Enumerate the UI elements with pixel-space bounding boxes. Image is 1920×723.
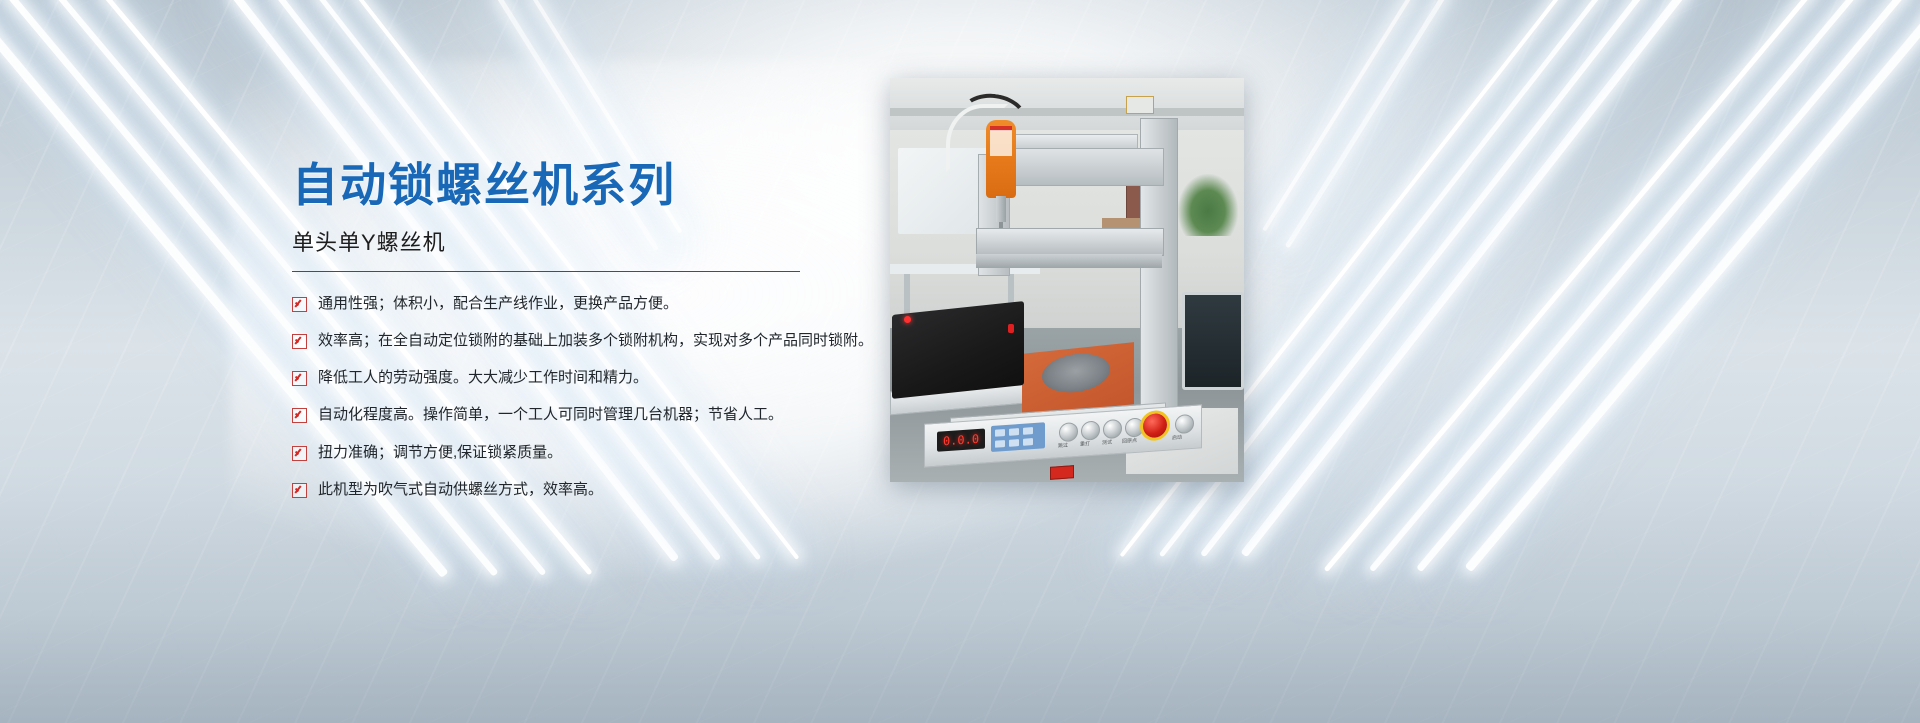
button-test[interactable] [1103, 419, 1122, 439]
check-box-icon [292, 371, 307, 386]
check-box-icon [292, 483, 307, 498]
feature-list: 通用性强；体积小，配合生产线作业，更换产品方便。 效率高；在全自动定位锁附的基础… [292, 294, 892, 501]
button-redo-label: 重打 [1080, 440, 1090, 448]
photo-ceiling-beam [890, 108, 1244, 116]
button-test-label: 测试 [1102, 439, 1112, 447]
button-home-label: 回原点 [1122, 437, 1137, 445]
product-banner: 自动锁螺丝机系列 单头单Y螺丝机 通用性强；体积小，配合生产线作业，更换产品方便… [0, 0, 1920, 723]
check-box-icon [292, 334, 307, 349]
counter-display: 0.0.0 [937, 428, 985, 451]
feature-text: 通用性强；体积小，配合生产线作业，更换产品方便。 [318, 294, 678, 314]
title-divider [292, 271, 800, 272]
check-box-icon [292, 297, 307, 312]
feature-text: 此机型为吹气式自动供螺丝方式，效率高。 [318, 480, 603, 500]
feature-text: 效率高；在全自动定位锁附的基础上加装多个锁附机构，实现对多个产品同时锁附。 [318, 331, 873, 351]
emergency-stop-button[interactable] [1143, 413, 1167, 439]
button-start[interactable] [1175, 414, 1194, 434]
machine-hmi-screen [1182, 292, 1244, 390]
button-start-label: 启动 [1172, 434, 1182, 442]
button-redo[interactable] [1081, 420, 1100, 440]
list-item: 自动化程度高。操作简单，一个工人可同时管理几台机器；节省人工。 [292, 405, 892, 425]
photo-plant [1178, 174, 1238, 236]
list-item: 通用性强；体积小，配合生产线作业，更换产品方便。 [292, 294, 892, 314]
banner-copy: 自动锁螺丝机系列 单头单Y螺丝机 通用性强；体积小，配合生产线作业，更换产品方便… [292, 160, 892, 517]
counter-value: 0.0.0 [943, 433, 979, 448]
machine-gantry-body [1012, 148, 1164, 186]
button-skip-label: 跳过 [1058, 442, 1068, 450]
machine-x-axis-rail [976, 228, 1164, 256]
machine-screwdriver-shaft [996, 196, 1006, 222]
list-item: 效率高；在全自动定位锁附的基础上加装多个锁附机构，实现对多个产品同时锁附。 [292, 331, 892, 351]
button-skip[interactable] [1059, 422, 1078, 442]
feature-text: 自动化程度高。操作简单，一个工人可同时管理几台机器；节省人工。 [318, 405, 783, 425]
machine-screwdriver-label [990, 130, 1012, 156]
button-home[interactable] [1125, 417, 1144, 437]
list-item: 此机型为吹气式自动供螺丝方式，效率高。 [292, 480, 892, 500]
keypad[interactable] [991, 422, 1045, 452]
feature-text: 降低工人的劳动强度。大大减少工作时间和精力。 [318, 368, 648, 388]
machine-x-axis-rail-lower [976, 254, 1162, 268]
machine-feeder-indicator [904, 316, 911, 323]
page-title: 自动锁螺丝机系列 [292, 160, 892, 211]
check-box-icon [292, 408, 307, 423]
check-box-icon [292, 446, 307, 461]
list-item: 降低工人的劳动强度。大大减少工作时间和精力。 [292, 368, 892, 388]
photo-wall-sign [1126, 96, 1154, 114]
page-subtitle: 单头单Y螺丝机 [292, 225, 892, 257]
machine-screw-feeder [892, 301, 1024, 399]
machine-feeder-indicator-2 [1008, 324, 1014, 333]
product-photo: 0.0.0 跳过 重打 测试 回原点 启动 [890, 78, 1244, 482]
photo-ceiling [890, 78, 1244, 136]
list-item: 扭力准确；调节方便,保证锁紧质量。 [292, 443, 892, 463]
machine-power-switch[interactable] [1050, 465, 1074, 480]
feature-text: 扭力准确；调节方便,保证锁紧质量。 [318, 443, 562, 463]
